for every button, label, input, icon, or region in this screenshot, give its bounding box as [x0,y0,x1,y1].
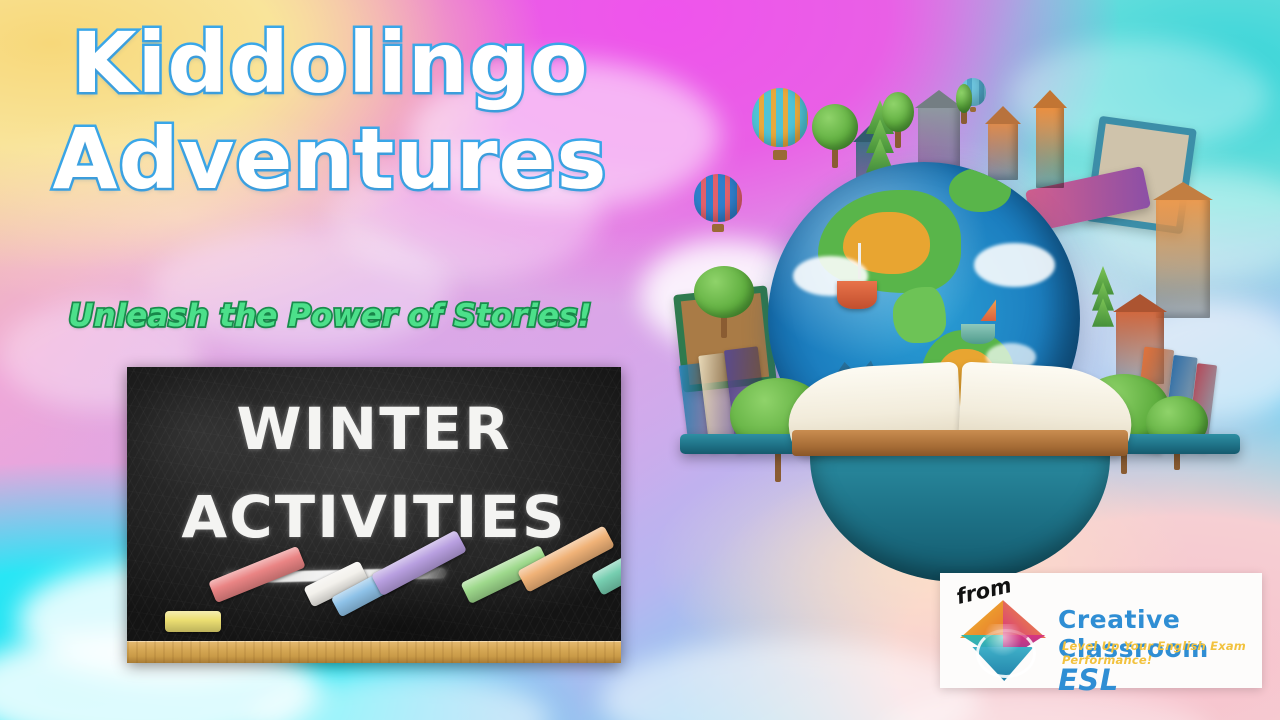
video-thumbnail: Kiddolingo Adventures Unleash the Power … [0,0,1280,720]
continent-central-america [893,287,946,343]
title-line-2: Adventures [0,118,660,200]
tree-crown [812,104,858,150]
tree-8 [694,266,754,338]
sailboat-mast [858,243,861,279]
balloon-basket [712,224,724,232]
chalkboard: WINTER ACTIVITIES [127,367,621,663]
chalk-heading-line-1: WINTER [127,395,621,463]
tree-1 [812,104,858,168]
gem-ring-icon [976,629,1035,678]
rainbow-gem-logo [960,595,1046,681]
tree-2 [882,92,914,148]
building-skyscraper [1156,198,1210,318]
sailboat-icon [837,281,877,309]
boat-icon-2 [961,324,995,344]
balloon-envelope [752,88,808,147]
title-block: Kiddolingo Adventures [0,22,660,201]
brand-badge: from Creative Classroom ESL Level Up You… [940,573,1262,688]
tree-7 [1146,396,1208,470]
boat-sail-2 [980,299,996,321]
globe-cloud-2 [974,243,1055,287]
open-book [788,366,1132,452]
chalk-heading-line-2: ACTIVITIES [127,483,621,551]
tree-crown [694,266,754,318]
continent-greenland [949,168,1011,212]
pine-tree-2 [1092,266,1114,328]
chalk-ledge [127,641,621,663]
ledge-wood-grain [127,641,621,663]
balloon-envelope [694,174,742,222]
tree-crown [882,92,914,132]
chalk-stick-1 [165,611,221,632]
brand-name-accent: ESL [1058,663,1119,697]
tree-crown [956,84,972,113]
title-line-1: Kiddolingo [0,22,660,104]
hot-air-balloon-1 [752,88,808,160]
hot-air-balloon-2 [694,174,742,232]
globe-storybook-illustration [660,78,1260,638]
building-clocktower [918,106,960,168]
tree-3 [956,84,972,124]
balloon-basket [773,150,786,160]
building-spire [1036,106,1064,188]
book-cover [792,430,1128,456]
brand-tagline: Level Up Your English Exam Performance! [1062,639,1262,667]
tagline: Unleash the Power of Stories! [0,298,660,334]
